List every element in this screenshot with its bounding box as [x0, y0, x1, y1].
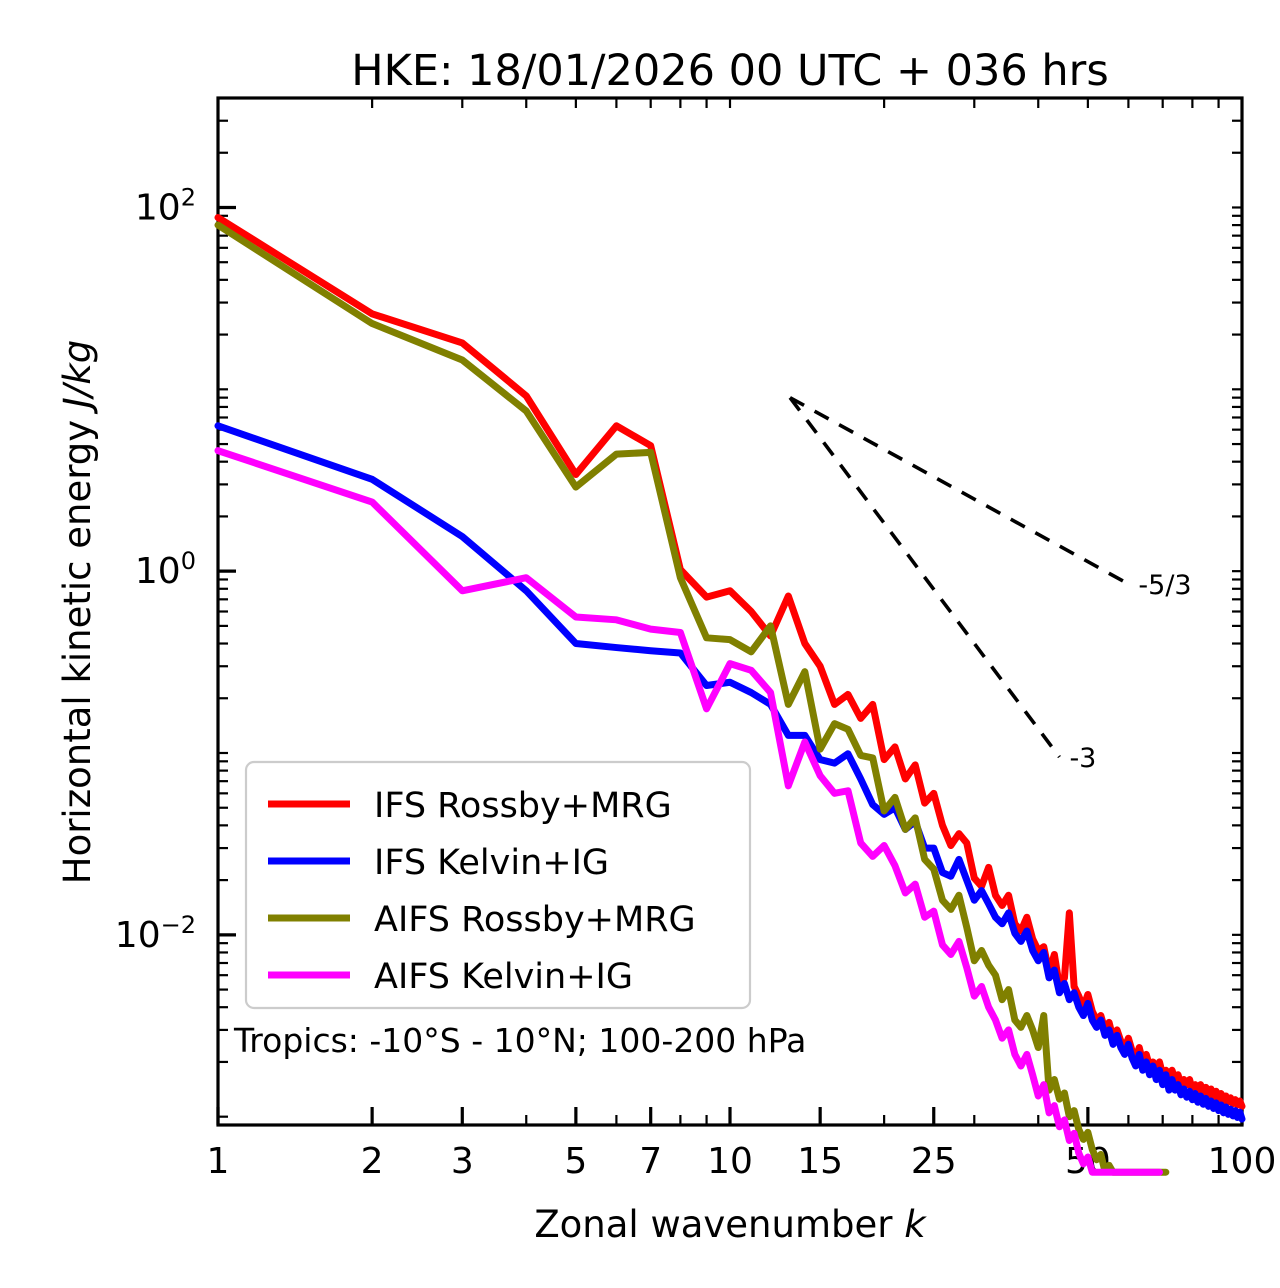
- y-tick-base: 10: [135, 551, 181, 592]
- y-axis-label-main: Horizontal kinetic energy: [56, 408, 99, 884]
- x-tick-label: 5: [564, 1141, 587, 1182]
- y-tick-base: 10: [135, 187, 181, 228]
- x-tick-label: 2: [361, 1141, 384, 1182]
- chart-title: HKE: 18/01/2026 00 UTC + 036 hrs: [351, 46, 1108, 96]
- x-tick-label: 7: [639, 1141, 662, 1182]
- region-annotation: Tropics: -10°S - 10°N; 100-200 hPa: [233, 1021, 806, 1060]
- y-tick-label: 10−2: [115, 911, 196, 956]
- slope-label: -5/3: [1138, 570, 1191, 601]
- x-tick-label: 25: [911, 1141, 957, 1182]
- x-tick-label: 1: [207, 1141, 230, 1182]
- x-axis-label-main: Zonal wavenumber: [534, 1203, 904, 1246]
- y-tick-exponent: 2: [181, 183, 196, 211]
- x-tick-label: 100: [1208, 1141, 1277, 1182]
- x-tick-label: 10: [707, 1141, 753, 1182]
- x-axis-label-italic: k: [904, 1203, 927, 1246]
- y-tick-base: 10: [115, 915, 161, 956]
- slope-reference-lines: -5/3-3: [790, 398, 1192, 774]
- y-tick-label: 102: [135, 183, 196, 228]
- slope-label: -3: [1069, 743, 1096, 774]
- y-tick-label: 100: [135, 547, 196, 592]
- legend-label-3[interactable]: AIFS Kelvin+IG: [374, 957, 633, 997]
- legend-label-1[interactable]: IFS Kelvin+IG: [374, 843, 609, 883]
- x-tick-label: 3: [451, 1141, 474, 1182]
- y-axis-label: Horizontal kinetic energy J/kg: [56, 340, 99, 884]
- y-tick-exponent: −2: [161, 911, 196, 939]
- x-tick-label: 15: [797, 1141, 843, 1182]
- energy-spectrum-chart: HKE: 18/01/2026 00 UTC + 036 hrs 1235710…: [0, 0, 1280, 1288]
- chart-figure: HKE: 18/01/2026 00 UTC + 036 hrs 1235710…: [0, 0, 1280, 1288]
- chart-legend[interactable]: IFS Rossby+MRGIFS Kelvin+IGAIFS Rossby+M…: [246, 762, 750, 1008]
- slope-line--5-3: [790, 398, 1128, 584]
- x-axis-label: Zonal wavenumber k: [534, 1203, 927, 1246]
- legend-label-0[interactable]: IFS Rossby+MRG: [374, 786, 672, 826]
- y-tick-exponent: 0: [181, 547, 196, 575]
- y-axis-label-italic: J/kg: [56, 340, 99, 415]
- x-axis-ticks: 1235710152550100: [207, 98, 1277, 1182]
- legend-label-2[interactable]: AIFS Rossby+MRG: [374, 900, 696, 940]
